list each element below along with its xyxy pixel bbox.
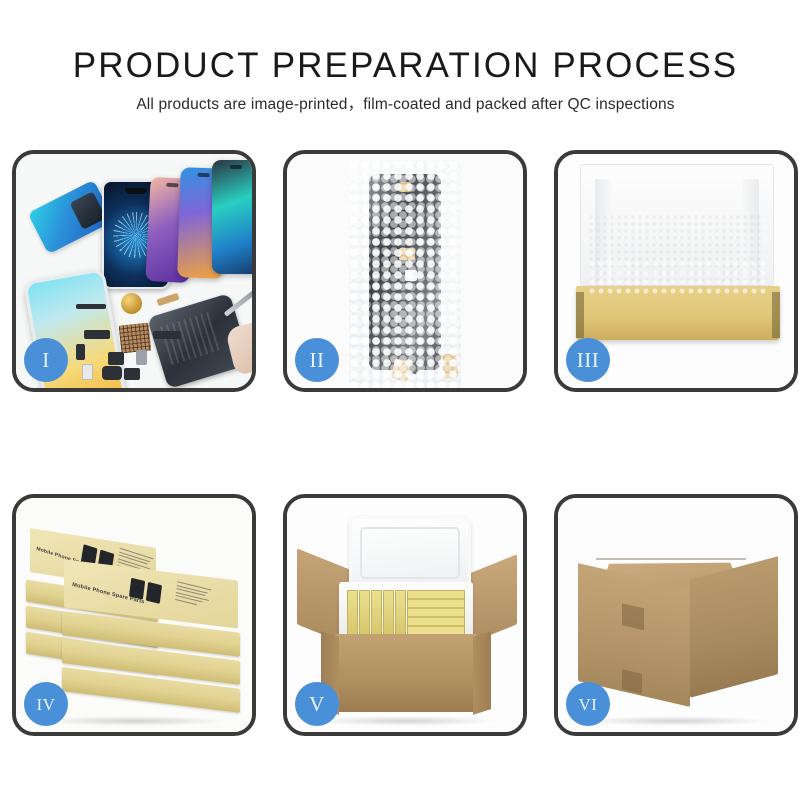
process-step-panel-2[interactable]: II <box>283 150 527 392</box>
process-step-panel-3[interactable]: III <box>554 150 798 392</box>
tape-patch <box>622 669 642 694</box>
plastic-sheen <box>349 160 461 388</box>
part-button-icon <box>76 344 85 360</box>
drop-shadow <box>40 716 229 726</box>
yellow-box-item <box>395 590 406 638</box>
part-sim-tray-icon <box>136 350 147 365</box>
process-step-grid: I II <box>12 150 801 750</box>
tray-edge-right <box>772 292 780 338</box>
connector-grid-icon <box>119 323 152 354</box>
part-speaker-icon <box>76 304 106 309</box>
yellow-box-item <box>383 590 394 638</box>
tray-edge-left <box>576 292 584 338</box>
foam-lid <box>349 516 471 590</box>
step-badge-3: III <box>566 338 610 382</box>
part-camera-icon <box>108 352 124 365</box>
step-badge-5: V <box>295 682 339 726</box>
drop-shadow <box>582 716 771 726</box>
part-antenna-icon <box>153 331 181 339</box>
page-subtitle: All products are image-printed，film-coat… <box>0 86 811 115</box>
bubble-wrap-bag <box>349 160 461 388</box>
carton-top-seam <box>596 558 746 560</box>
part-flex-cable-icon <box>156 293 179 306</box>
yellow-box-item <box>347 590 358 638</box>
header: PRODUCT PREPARATION PROCESS All products… <box>0 0 811 115</box>
drop-shadow <box>311 716 500 726</box>
step-badge-6: VI <box>566 682 610 726</box>
kraft-inner-tray <box>576 286 780 340</box>
bubble-wrap-contents <box>588 260 768 294</box>
box-spec-lines <box>175 581 211 610</box>
sealed-carton <box>574 524 782 704</box>
yellow-box-group <box>407 590 465 638</box>
page-title: PRODUCT PREPARATION PROCESS <box>0 0 811 86</box>
step-badge-2: II <box>295 338 339 382</box>
step-badge-4: IV <box>24 682 68 726</box>
carton-body <box>335 634 477 712</box>
process-step-panel-6[interactable]: VI <box>554 494 798 736</box>
yellow-box-item <box>359 590 370 638</box>
process-step-panel-1[interactable]: I <box>12 150 256 392</box>
tape-patch <box>622 603 644 630</box>
part-ribbon-icon <box>84 330 110 339</box>
step-badge-1: I <box>24 338 68 382</box>
yellow-box-item <box>371 590 382 638</box>
part-receiver-icon <box>102 366 122 380</box>
process-step-panel-4[interactable]: Mobile Phone Spare Parts <box>12 494 256 736</box>
process-step-panel-5[interactable]: V <box>283 494 527 736</box>
part-chip-icon <box>82 364 93 380</box>
phone-teal-icon <box>212 160 252 274</box>
part-bracket-icon <box>124 368 140 380</box>
vibration-motor-icon <box>121 293 142 314</box>
carton-side-face <box>690 556 778 698</box>
product-preparation-infographic: PRODUCT PREPARATION PROCESS All products… <box>0 0 811 811</box>
